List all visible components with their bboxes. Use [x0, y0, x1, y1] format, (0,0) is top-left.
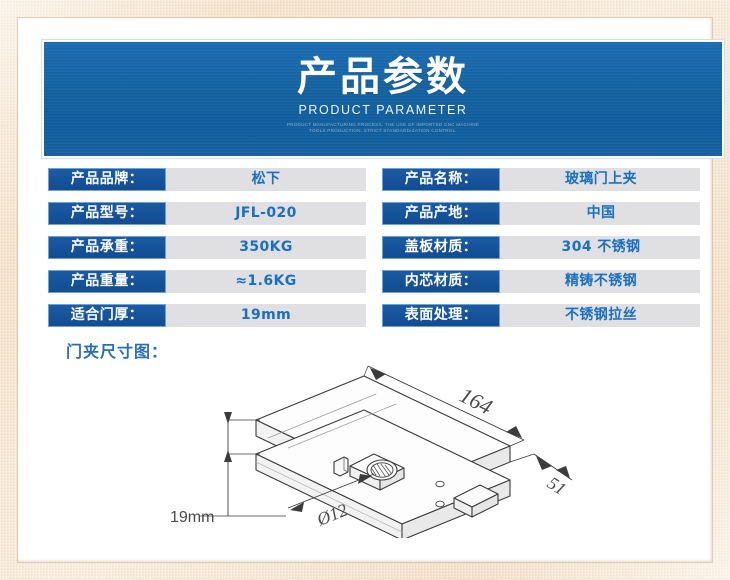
- spec-value: JFL-020: [166, 202, 382, 225]
- spec-value: 松下: [166, 168, 382, 191]
- banner-fine-print-line-2: TOOLS PRODUCTION, STRICT STANDARDIZATION…: [287, 128, 479, 134]
- spec-value: 中国: [500, 202, 718, 225]
- table-row: 产品产地： 中国: [382, 202, 718, 225]
- spec-value: 精铸不锈钢: [500, 270, 718, 293]
- table-row: 产品名称： 玻璃门上夹: [382, 168, 718, 191]
- spec-value: ≈1.6KG: [166, 270, 382, 293]
- banner-fine-print: PRODUCT MANUFACTURING PROCESS, THE USE O…: [287, 122, 479, 134]
- spec-label: 产品承重：: [48, 236, 166, 259]
- spec-table-right-column: 产品名称： 玻璃门上夹 产品产地： 中国 盖板材质： 304 不锈钢 内芯材质：: [382, 168, 718, 327]
- table-row: 产品型号： JFL-020: [48, 202, 382, 225]
- dimension-drawing-heading: 门夹尺寸图：: [66, 338, 168, 362]
- white-content-panel: 产品参数 PRODUCT PARAMETER PRODUCT MANUFACTU…: [18, 18, 712, 562]
- spec-label: 产品型号：: [48, 202, 166, 225]
- spec-value: 350KG: [166, 236, 382, 259]
- spec-label: 内芯材质：: [382, 270, 500, 293]
- table-row: 内芯材质： 精铸不锈钢: [382, 270, 718, 293]
- page-header-banner: 产品参数 PRODUCT PARAMETER PRODUCT MANUFACTU…: [42, 40, 724, 158]
- page-subtitle: PRODUCT PARAMETER: [298, 103, 467, 117]
- table-row: 产品承重： 350KG: [48, 236, 382, 259]
- banner-content: 产品参数 PRODUCT PARAMETER PRODUCT MANUFACTU…: [44, 42, 722, 156]
- dimension-drawing: 164 51 Ø12 19mm: [168, 358, 588, 538]
- page-title: 产品参数: [297, 54, 469, 100]
- spec-label: 产品产地：: [382, 202, 500, 225]
- spec-value: 不锈钢拉丝: [500, 304, 718, 327]
- dimension-label-thickness: 19mm: [170, 509, 214, 526]
- product-parameter-page: 产品参数 PRODUCT PARAMETER PRODUCT MANUFACTU…: [0, 0, 730, 580]
- table-row: 表面处理： 不锈钢拉丝: [382, 304, 718, 327]
- table-row: 适合门厚： 19mm: [48, 304, 382, 327]
- spec-label: 适合门厚：: [48, 304, 166, 327]
- spec-label: 表面处理：: [382, 304, 500, 327]
- spec-table: 产品品牌： 松下 产品型号： JFL-020 产品承重： 350KG 产品重量：: [48, 168, 718, 327]
- spec-table-left-column: 产品品牌： 松下 产品型号： JFL-020 产品承重： 350KG 产品重量：: [48, 168, 382, 327]
- spec-label: 盖板材质：: [382, 236, 500, 259]
- dimension-label-length: 164: [456, 382, 497, 419]
- spec-label: 产品重量：: [48, 270, 166, 293]
- table-row: 产品重量： ≈1.6KG: [48, 270, 382, 293]
- spec-label: 产品品牌：: [48, 168, 166, 191]
- table-row: 盖板材质： 304 不锈钢: [382, 236, 718, 259]
- spec-value: 玻璃门上夹: [500, 168, 718, 191]
- spec-value: 304 不锈钢: [500, 236, 718, 259]
- table-row: 产品品牌： 松下: [48, 168, 382, 191]
- spec-value: 19mm: [166, 304, 382, 327]
- dimension-label-width: 51: [544, 473, 570, 500]
- spec-label: 产品名称：: [382, 168, 500, 191]
